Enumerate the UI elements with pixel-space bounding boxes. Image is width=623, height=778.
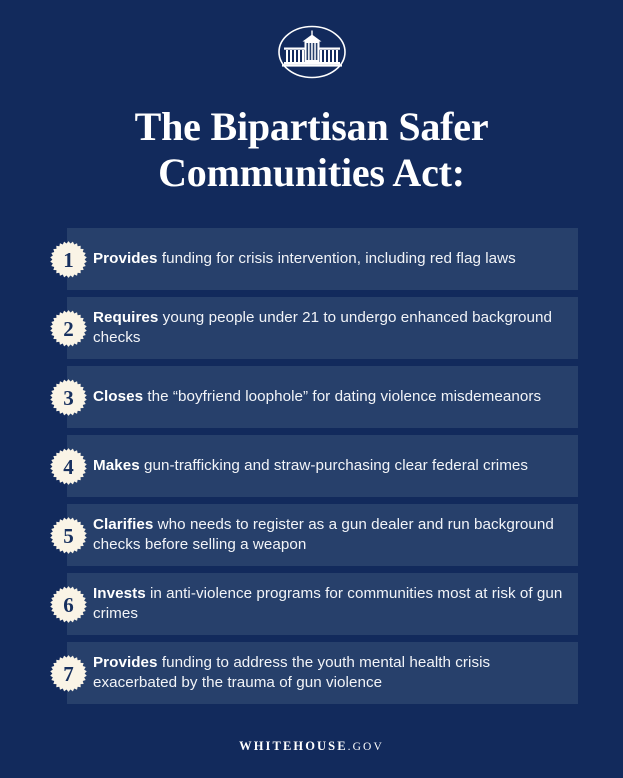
number-badge-3: 3 — [50, 379, 87, 416]
badge-number: 1 — [63, 248, 74, 272]
badge-number: 7 — [63, 662, 74, 686]
badge-number: 6 — [63, 593, 74, 617]
list-item-text: Provides funding to address the youth me… — [93, 642, 569, 704]
title-line-1: The Bipartisan Safer — [40, 104, 583, 150]
seal-container — [0, 22, 623, 82]
number-badge-5: 5 — [50, 517, 87, 554]
badge-number: 3 — [63, 386, 74, 410]
list-item-rest: who needs to register as a gun dealer an… — [93, 516, 554, 553]
footer-tld: .GOV — [348, 741, 384, 753]
footer-domain: WHITEHOUSE — [239, 739, 348, 753]
number-badge-7: 7 — [50, 655, 87, 692]
list-item[interactable]: 6Invests in anti-violence programs for c… — [0, 573, 623, 635]
list-item-text: Requires young people under 21 to underg… — [93, 297, 569, 359]
badge-number: 2 — [63, 317, 74, 341]
list-item-lead: Makes — [93, 457, 140, 474]
list-item[interactable]: 5Clarifies who needs to register as a gu… — [0, 504, 623, 566]
list-item-text: Makes gun-trafficking and straw-purchasi… — [93, 435, 569, 497]
list-item-lead: Requires — [93, 309, 158, 326]
list-item-text: Clarifies who needs to register as a gun… — [93, 504, 569, 566]
infographic-poster: The Bipartisan Safer Communities Act: 1P… — [0, 0, 623, 778]
list-item[interactable]: 7Provides funding to address the youth m… — [0, 642, 623, 704]
list-item-rest: the “boyfriend loophole” for dating viol… — [143, 388, 541, 405]
number-badge-4: 4 — [50, 448, 87, 485]
list-item-text: Invests in anti-violence programs for co… — [93, 573, 569, 635]
page-title: The Bipartisan Safer Communities Act: — [0, 104, 623, 196]
list-item-rest: in anti-violence programs for communitie… — [93, 585, 562, 622]
number-badge-2: 2 — [50, 310, 87, 347]
list-item-lead: Provides — [93, 250, 158, 267]
list-item-text: Closes the “boyfriend loophole” for dati… — [93, 366, 569, 428]
list-item-lead: Closes — [93, 388, 143, 405]
badge-number: 4 — [63, 455, 74, 479]
list-item[interactable]: 1Provides funding for crisis interventio… — [0, 228, 623, 290]
list-item-rest: young people under 21 to undergo enhance… — [93, 309, 552, 346]
list-item[interactable]: 3Closes the “boyfriend loophole” for dat… — [0, 366, 623, 428]
badge-number: 5 — [63, 524, 74, 548]
list-item[interactable]: 2Requires young people under 21 to under… — [0, 297, 623, 359]
list-item-lead: Clarifies — [93, 516, 153, 533]
white-house-seal-icon — [270, 22, 354, 82]
number-badge-1: 1 — [50, 241, 87, 278]
provision-list: 1Provides funding for crisis interventio… — [0, 228, 623, 711]
site-footer: WHITEHOUSE.GOV — [0, 739, 623, 754]
list-item-lead: Provides — [93, 654, 158, 671]
list-item-lead: Invests — [93, 585, 146, 602]
number-badge-6: 6 — [50, 586, 87, 623]
list-item-text: Provides funding for crisis intervention… — [93, 228, 569, 290]
title-line-2: Communities Act: — [40, 150, 583, 196]
list-item-rest: funding for crisis intervention, includi… — [158, 250, 516, 267]
list-item-rest: gun-trafficking and straw-purchasing cle… — [140, 457, 528, 474]
list-item[interactable]: 4Makes gun-trafficking and straw-purchas… — [0, 435, 623, 497]
